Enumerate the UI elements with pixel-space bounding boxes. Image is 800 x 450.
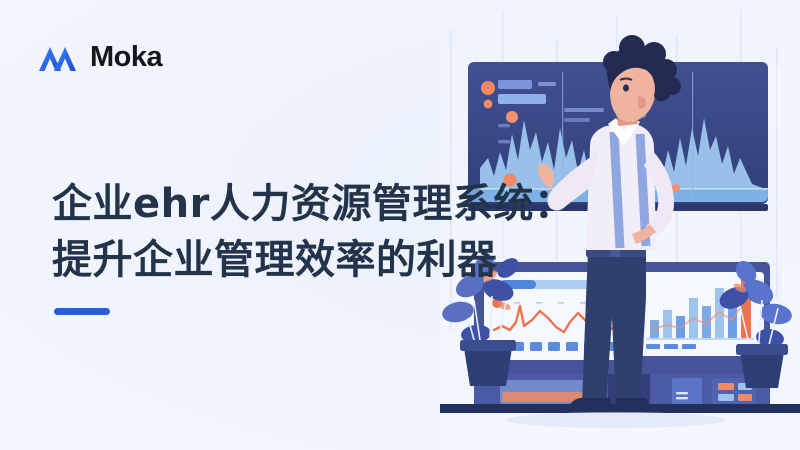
page-title: 企业ehr人力资源管理系统： 提升企业管理效率的利器 [52, 176, 574, 288]
hero-banner: Moka 企业ehr人力资源管理系统： 提升企业管理效率的利器 [0, 0, 800, 450]
accent-bar [54, 308, 110, 315]
headline-line-1: 企业ehr人力资源管理系统： [52, 176, 574, 232]
headline-line-2: 提升企业管理效率的利器 [52, 232, 574, 288]
moka-mountain-logo-icon [36, 40, 80, 74]
brand-name: Moka [90, 43, 162, 72]
brand-logo[interactable]: Moka [36, 40, 162, 74]
